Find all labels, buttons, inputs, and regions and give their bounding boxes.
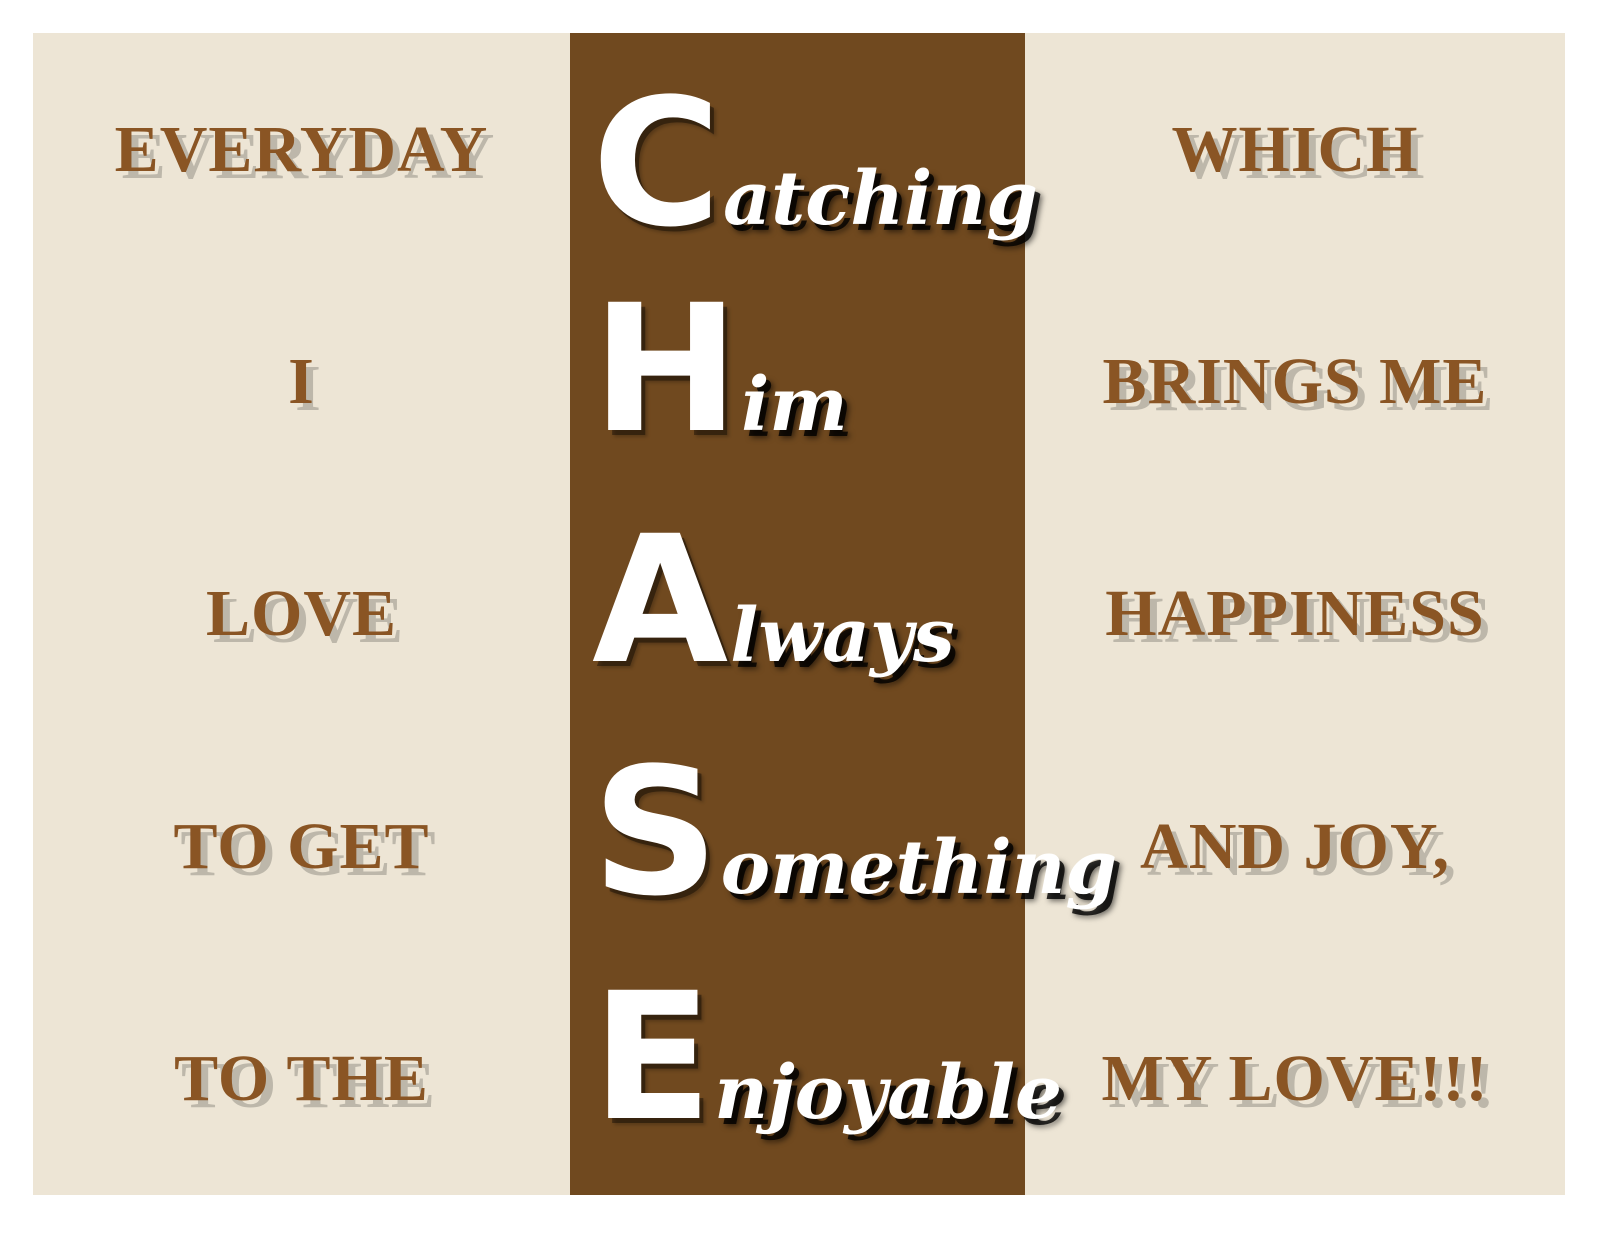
left-row-2: I (33, 265, 570, 497)
acrostic-row-h: H im (570, 265, 1025, 497)
left-line-3: LOVE (206, 579, 397, 648)
left-text-column: EVERYDAY I LOVE TO GET TO THE (33, 33, 570, 1195)
right-row-1: WHICH (1025, 33, 1565, 265)
acrostic-line-h: H im (592, 293, 848, 448)
acrostic-capital-a: A (592, 524, 726, 679)
right-row-3: HAPPINESS (1025, 498, 1565, 730)
left-line-1: EVERYDAY (115, 115, 489, 184)
acrostic-row-e: E njoyable (570, 963, 1025, 1195)
acrostic-line-e: E njoyable (592, 981, 1062, 1136)
right-line-2: BRINGS ME (1103, 347, 1488, 416)
center-acrostic-column: C atching H im A lways S omethi (570, 33, 1025, 1195)
acrostic-word-catching: atching (723, 162, 1038, 236)
right-text-column: WHICH BRINGS ME HAPPINESS AND JOY, MY LO… (1025, 33, 1565, 1195)
right-row-4: AND JOY, (1025, 730, 1565, 962)
left-row-4: TO GET (33, 730, 570, 962)
acrostic-capital-s: S (592, 756, 717, 911)
left-line-2: I (288, 347, 315, 416)
poem-poster: EVERYDAY I LOVE TO GET TO THE C atching (33, 33, 1565, 1195)
right-line-1: WHICH (1171, 115, 1418, 184)
acrostic-capital-e: E (592, 981, 710, 1136)
left-row-1: EVERYDAY (33, 33, 570, 265)
acrostic-capital-h: H (592, 293, 737, 448)
acrostic-word-enjoyable: njoyable (714, 1056, 1062, 1130)
left-line-5: TO THE (174, 1044, 429, 1113)
left-row-3: LOVE (33, 498, 570, 730)
right-row-2: BRINGS ME (1025, 265, 1565, 497)
left-row-5: TO THE (33, 963, 570, 1195)
acrostic-word-always: lways (730, 599, 954, 673)
right-line-4: AND JOY, (1140, 812, 1450, 881)
acrostic-word-him: im (741, 368, 847, 442)
center-column-rows: C atching H im A lways S omethi (570, 33, 1025, 1195)
acrostic-row-s: S omething (570, 730, 1025, 962)
left-line-4: TO GET (173, 812, 429, 881)
left-column-rows: EVERYDAY I LOVE TO GET TO THE (33, 33, 570, 1195)
right-line-3: HAPPINESS (1105, 579, 1484, 648)
right-line-5: MY LOVE!!! (1102, 1044, 1489, 1113)
acrostic-row-c: C atching (570, 33, 1025, 265)
acrostic-capital-c: C (592, 87, 719, 242)
right-column-rows: WHICH BRINGS ME HAPPINESS AND JOY, MY LO… (1025, 33, 1565, 1195)
acrostic-row-a: A lways (570, 498, 1025, 730)
acrostic-line-a: A lways (592, 524, 955, 679)
right-row-5: MY LOVE!!! (1025, 963, 1565, 1195)
acrostic-line-c: C atching (592, 87, 1038, 242)
